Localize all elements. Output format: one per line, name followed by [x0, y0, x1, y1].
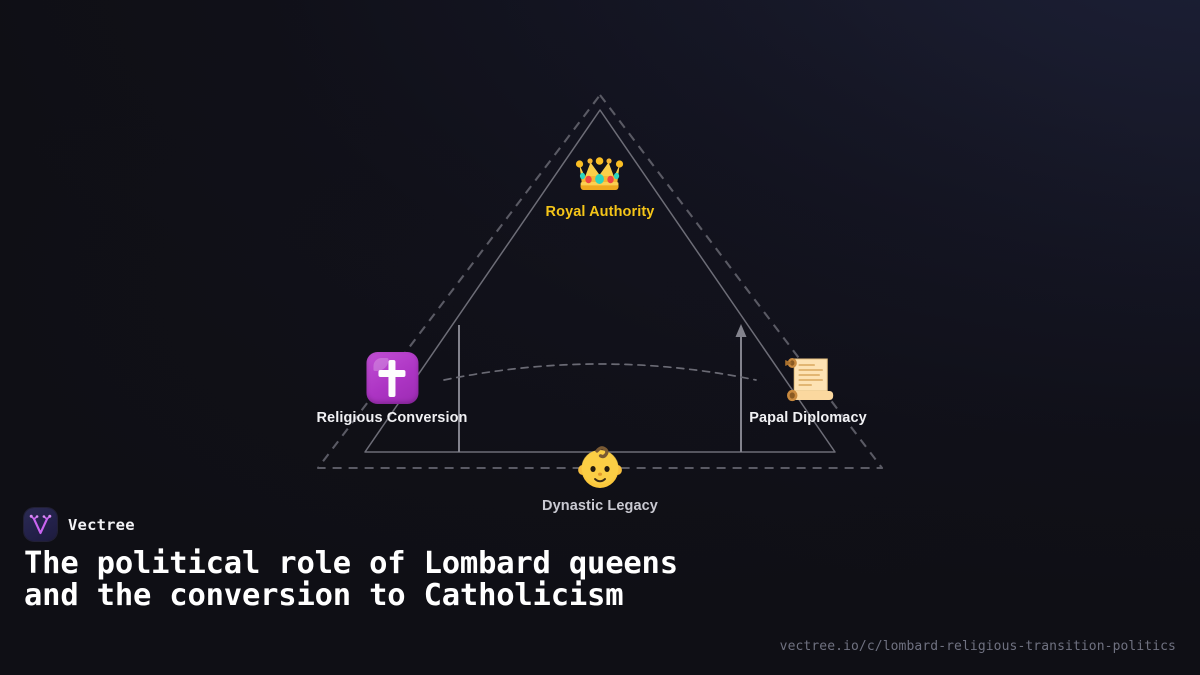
node-label-royal-authority: Royal Authority: [546, 204, 655, 220]
scroll-icon: [781, 352, 835, 404]
latin-cross-tile: [366, 352, 418, 404]
cross-vertical-bar: [389, 360, 396, 397]
baby-icon-svg: [575, 441, 625, 491]
screenshot-canvas: Royal Authority Religious Conversion: [0, 0, 1200, 675]
page-title: The political role of Lombard queens and…: [24, 548, 684, 612]
cross-horizontal-bar: [379, 370, 406, 377]
concept-diagram: Royal Authority Religious Conversion: [0, 0, 1200, 540]
baby-icon: [575, 440, 625, 492]
node-royal-authority[interactable]: Royal Authority: [546, 146, 655, 220]
vectree-v-logo-svg: [24, 508, 57, 541]
crown-icon-svg: [574, 149, 626, 195]
right-stem-arrowhead: [736, 324, 747, 337]
brand-name: Vectree: [68, 516, 135, 534]
node-religious-conversion[interactable]: Religious Conversion: [316, 352, 467, 426]
latin-cross-icon: [366, 352, 418, 404]
brand-lockup[interactable]: Vectree: [24, 508, 135, 541]
footer: Vectree The political role of Lombard qu…: [0, 495, 1200, 675]
vectree-v-logo-icon: [24, 508, 57, 541]
source-url: vectree.io/c/lombard-religious-transitio…: [780, 639, 1176, 654]
node-papal-diplomacy[interactable]: Papal Diplomacy: [749, 352, 867, 426]
node-label-papal-diplomacy: Papal Diplomacy: [749, 410, 867, 426]
cross-arc-dashed: [444, 364, 756, 380]
scroll-icon-svg: [781, 353, 835, 403]
crown-icon: [574, 146, 626, 198]
node-label-religious-conversion: Religious Conversion: [316, 410, 467, 426]
